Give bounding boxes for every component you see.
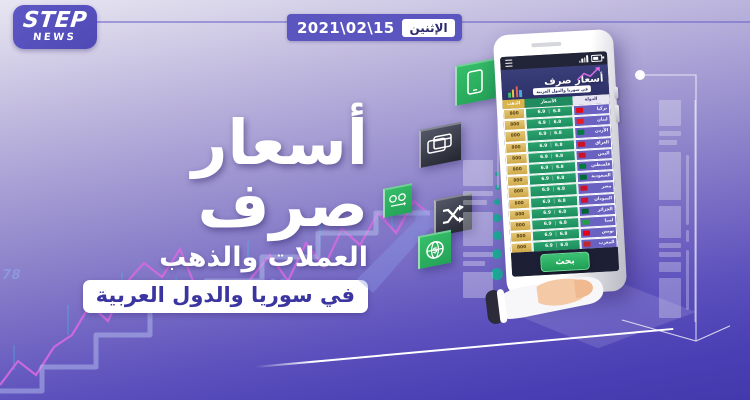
cell-separator: | — [550, 143, 552, 148]
cell-buy: 6.9 — [543, 210, 551, 215]
cell-separator: | — [549, 121, 551, 126]
flag-icon — [578, 141, 585, 146]
cell-buy: 6.9 — [541, 166, 549, 171]
cell-separator: | — [551, 154, 553, 159]
phone-side-button-top[interactable] — [614, 87, 619, 99]
poster-canvas: 78 0.01 STEP NEWS 2021\02\15 الإثنين أسع… — [0, 0, 750, 400]
country-name: الجزائر — [598, 207, 613, 213]
cell-sell: 6.8 — [554, 131, 562, 136]
menu-icon[interactable] — [505, 59, 512, 67]
flag-icon — [578, 152, 585, 157]
cell-sell: 6.8 — [555, 154, 563, 159]
battery-icon — [591, 54, 602, 62]
cell-separator: | — [555, 232, 557, 237]
cell-sell: 6.8 — [553, 109, 561, 114]
cell-separator: | — [549, 132, 551, 137]
smartphone-mockup[interactable]: أسعار صرف في سوريا والدول العربية الذهب … — [493, 29, 627, 297]
cell-sell: 6.8 — [558, 210, 566, 215]
flag-icon — [580, 175, 587, 180]
cell-buy: 6.9 — [545, 244, 553, 249]
country-name: لبنان — [597, 118, 608, 124]
cell-buy: 6.9 — [539, 143, 547, 148]
globe-dollar-icon[interactable]: $ — [418, 230, 451, 269]
logo-text-step: STEP — [22, 11, 88, 32]
cell-separator: | — [554, 210, 556, 215]
cell-separator: | — [556, 244, 558, 249]
trend-arrow-icon — [576, 67, 603, 82]
headline-sub: العملات والذهب — [8, 242, 368, 273]
flag-icon — [581, 197, 588, 202]
cell-buy: 6.9 — [539, 132, 547, 137]
app-header: أسعار صرف في سوريا والدول العربية — [501, 64, 610, 100]
cell-buy: 6.9 — [538, 121, 546, 126]
credit-cards-icon[interactable] — [419, 122, 461, 168]
flag-icon — [582, 219, 589, 224]
flag-icon — [577, 119, 584, 124]
country-name: اليمن — [598, 151, 610, 157]
currency-exchange-icon[interactable] — [383, 183, 412, 218]
cell-buy: 6.9 — [542, 188, 550, 193]
country-name: السعودية — [591, 173, 611, 179]
cell-buy: 6.9 — [541, 177, 549, 182]
cell-separator: | — [548, 110, 550, 115]
date-value: 2021\02\15 — [297, 19, 394, 37]
country-name: المغرب — [599, 240, 615, 246]
country-name: تركيا — [597, 106, 608, 112]
headline-main: أسعار صرف — [8, 112, 368, 236]
country-name: مصر — [602, 185, 612, 191]
signal-icon — [579, 56, 589, 63]
cell-buy: 6.9 — [540, 155, 548, 160]
app-subtitle: في سوريا والدول العربية — [533, 85, 591, 95]
cell-sell: 6.8 — [557, 176, 565, 181]
flag-icon — [580, 186, 587, 191]
cell-sell: 6.8 — [560, 232, 568, 237]
cell-separator: | — [553, 188, 555, 193]
cell-separator: | — [554, 221, 556, 226]
cell-sell: 6.8 — [558, 198, 566, 203]
bar-chart-icon — [508, 86, 523, 98]
cell-sell: 6.8 — [555, 142, 563, 147]
headline-badge: في سوريا والدول العربية — [83, 280, 368, 313]
cell-sell: 6.8 — [557, 187, 565, 192]
cell-buy: 6.9 — [542, 199, 550, 204]
flag-icon — [576, 108, 583, 113]
headline-block: أسعار صرف العملات والذهب في سوريا والدول… — [8, 112, 368, 313]
flag-icon — [579, 164, 586, 169]
country-name: السودان — [594, 196, 612, 202]
flag-icon — [577, 130, 584, 135]
cell-buy: 6.9 — [544, 222, 552, 227]
rates-table-body[interactable]: 8006.9|6.8تركيا8006.9|6.8لبنان8006.9|6.8… — [503, 103, 618, 253]
hand-pointer — [480, 258, 640, 338]
cell-sell: 6.8 — [559, 221, 567, 226]
flag-icon — [583, 231, 590, 236]
country-name: العراق — [595, 140, 609, 146]
country-name: الأردن — [595, 129, 609, 135]
cell-sell: 6.8 — [560, 243, 568, 248]
country-name: ليبيا — [604, 218, 613, 223]
country-name: فلسطين — [591, 162, 610, 168]
cell-buy: 6.9 — [537, 110, 545, 115]
flag-icon — [582, 208, 589, 213]
phone-screen[interactable]: أسعار صرف في سوريا والدول العربية الذهب … — [500, 51, 619, 277]
cell-separator: | — [553, 199, 555, 204]
step-news-logo[interactable]: STEP NEWS — [13, 5, 97, 49]
cell-sell: 6.8 — [553, 120, 561, 125]
cell-buy: 6.9 — [544, 233, 552, 238]
smartphone-icon[interactable] — [455, 58, 495, 106]
country-name: تونس — [602, 229, 615, 235]
cell-separator: | — [552, 177, 554, 182]
flag-icon — [583, 242, 590, 247]
date-badge: 2021\02\15 الإثنين — [287, 14, 462, 41]
cell-separator: | — [551, 165, 553, 170]
weekday-value: الإثنين — [402, 19, 454, 37]
logo-text-news: NEWS — [33, 33, 77, 43]
cell-sell: 6.8 — [556, 165, 564, 170]
